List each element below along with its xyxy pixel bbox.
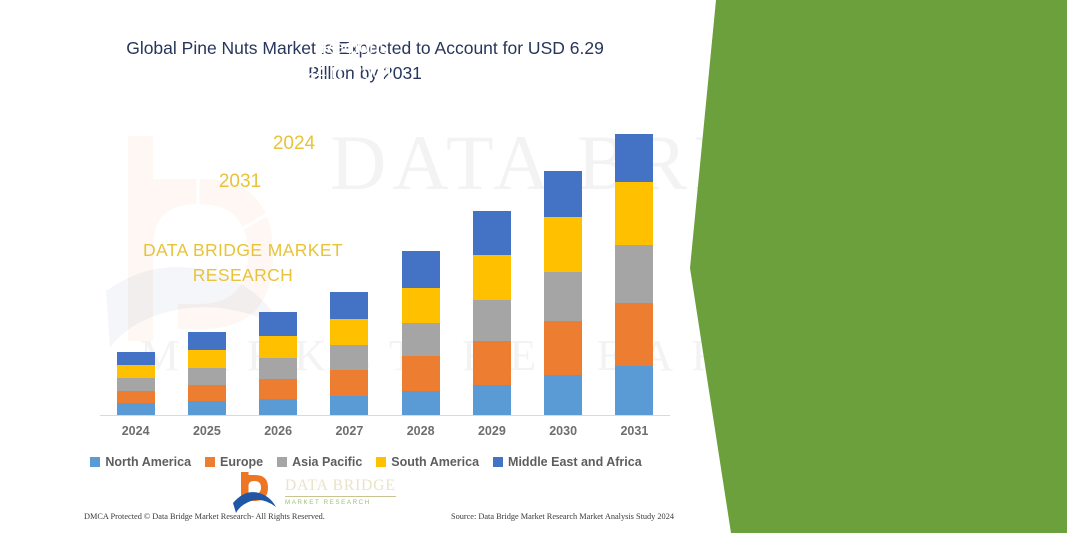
- bar-segment[interactable]: [117, 352, 155, 365]
- bar-segment[interactable]: [615, 366, 653, 415]
- bar-segment[interactable]: [473, 255, 511, 299]
- bar-segment[interactable]: [544, 272, 582, 321]
- bar-segment[interactable]: [259, 336, 297, 358]
- bar-2031[interactable]: [615, 134, 653, 415]
- bar-segment[interactable]: [117, 391, 155, 403]
- bar-segment[interactable]: [473, 300, 511, 341]
- legend-label: South America: [391, 455, 479, 469]
- x-axis-line: [100, 415, 670, 416]
- legend-item[interactable]: South America: [376, 455, 479, 469]
- legend-swatch-icon: [90, 457, 100, 467]
- bar-segment[interactable]: [473, 385, 511, 415]
- bar-2024[interactable]: [117, 352, 155, 415]
- panel-title-line-1: Global Pine Nuts Market, By Regions,: [86, 8, 394, 60]
- bar-2030[interactable]: [544, 171, 582, 415]
- bar-segment[interactable]: [544, 375, 582, 415]
- legend-label: Asia Pacific: [292, 455, 362, 469]
- legend-swatch-icon: [277, 457, 287, 467]
- data-bridge-logo: DATA BRIDGE MARKET RESEARCH: [232, 468, 422, 516]
- bar-2027[interactable]: [330, 292, 368, 415]
- chart-legend: North AmericaEuropeAsia PacificSouth Ame…: [60, 455, 672, 469]
- green-side-panel: [640, 0, 1067, 533]
- bar-segment[interactable]: [188, 385, 226, 401]
- bar-segment[interactable]: [259, 312, 297, 336]
- bar-2028[interactable]: [402, 251, 440, 415]
- bar-segment[interactable]: [188, 350, 226, 368]
- bar-segment[interactable]: [330, 345, 368, 370]
- footer-source: Source: Data Bridge Market Research Mark…: [451, 512, 674, 521]
- panel-title: Global Pine Nuts Market, By Regions, 202…: [86, 8, 394, 86]
- legend-item[interactable]: Europe: [205, 455, 263, 469]
- x-axis-label-2027: 2027: [319, 424, 379, 438]
- hexagon-end-year-label: 2024: [273, 133, 315, 155]
- legend-swatch-icon: [376, 457, 386, 467]
- bar-2029[interactable]: [473, 211, 511, 415]
- panel-title-line-2: 2024 to 2031: [86, 60, 394, 86]
- bar-segment[interactable]: [259, 379, 297, 399]
- bar-segment[interactable]: [544, 321, 582, 375]
- bar-segment[interactable]: [330, 370, 368, 396]
- infographic-canvas: DATA BRIDGE MARKET RESEARCH Global Pine …: [0, 0, 1067, 533]
- hexagon-badges: 2031 2024: [180, 96, 380, 216]
- bar-2025[interactable]: [188, 332, 226, 415]
- bar-segment[interactable]: [117, 378, 155, 391]
- bar-segment[interactable]: [117, 403, 155, 415]
- legend-item[interactable]: North America: [90, 455, 191, 469]
- hexagon-badge-end-year: 2024: [252, 98, 336, 190]
- bar-segment[interactable]: [402, 323, 440, 356]
- bar-segment[interactable]: [402, 288, 440, 323]
- bar-segment[interactable]: [259, 358, 297, 379]
- legend-label: Europe: [220, 455, 263, 469]
- x-axis-labels: 20242025202620272028202920302031: [100, 424, 670, 444]
- bar-segment[interactable]: [615, 303, 653, 366]
- hexagon-start-year-label: 2031: [219, 171, 261, 193]
- bar-segment[interactable]: [402, 356, 440, 391]
- bar-segment[interactable]: [330, 319, 368, 345]
- bar-segment[interactable]: [473, 211, 511, 255]
- logo-b-swoosh-icon: [232, 470, 278, 514]
- bar-segment[interactable]: [473, 341, 511, 385]
- x-axis-label-2028: 2028: [391, 424, 451, 438]
- logo-sub-text: MARKET RESEARCH: [285, 499, 396, 507]
- x-axis-label-2024: 2024: [106, 424, 166, 438]
- bar-segment[interactable]: [615, 182, 653, 245]
- bar-segment[interactable]: [330, 396, 368, 415]
- bar-segment[interactable]: [402, 251, 440, 287]
- brand-name-line-1: DATA BRIDGE MARKET: [118, 238, 368, 263]
- bar-segment[interactable]: [615, 245, 653, 302]
- bar-segment[interactable]: [544, 171, 582, 217]
- x-axis-label-2031: 2031: [604, 424, 664, 438]
- x-axis-label-2030: 2030: [533, 424, 593, 438]
- brand-name: DATA BRIDGE MARKET RESEARCH: [118, 238, 368, 288]
- legend-swatch-icon: [205, 457, 215, 467]
- legend-swatch-icon: [493, 457, 503, 467]
- x-axis-label-2025: 2025: [177, 424, 237, 438]
- logo-main-text: DATA BRIDGE: [285, 477, 396, 494]
- bar-segment[interactable]: [615, 134, 653, 182]
- legend-label: Middle East and Africa: [508, 455, 642, 469]
- bar-segment[interactable]: [188, 368, 226, 385]
- legend-item[interactable]: Asia Pacific: [277, 455, 362, 469]
- bar-segment[interactable]: [402, 391, 440, 415]
- bar-segment[interactable]: [117, 365, 155, 378]
- bar-2026[interactable]: [259, 312, 297, 415]
- bar-segment[interactable]: [259, 399, 297, 415]
- bar-segment[interactable]: [544, 217, 582, 271]
- legend-item[interactable]: Middle East and Africa: [493, 455, 642, 469]
- logo-mark-icon: [232, 470, 278, 514]
- logo-divider: [285, 496, 396, 497]
- bar-segment[interactable]: [188, 401, 226, 415]
- x-axis-label-2029: 2029: [462, 424, 522, 438]
- x-axis-label-2026: 2026: [248, 424, 308, 438]
- bar-segment[interactable]: [188, 332, 226, 350]
- bar-segment[interactable]: [330, 292, 368, 319]
- logo-text: DATA BRIDGE MARKET RESEARCH: [285, 477, 396, 507]
- legend-label: North America: [105, 455, 191, 469]
- brand-name-line-2: RESEARCH: [118, 263, 368, 288]
